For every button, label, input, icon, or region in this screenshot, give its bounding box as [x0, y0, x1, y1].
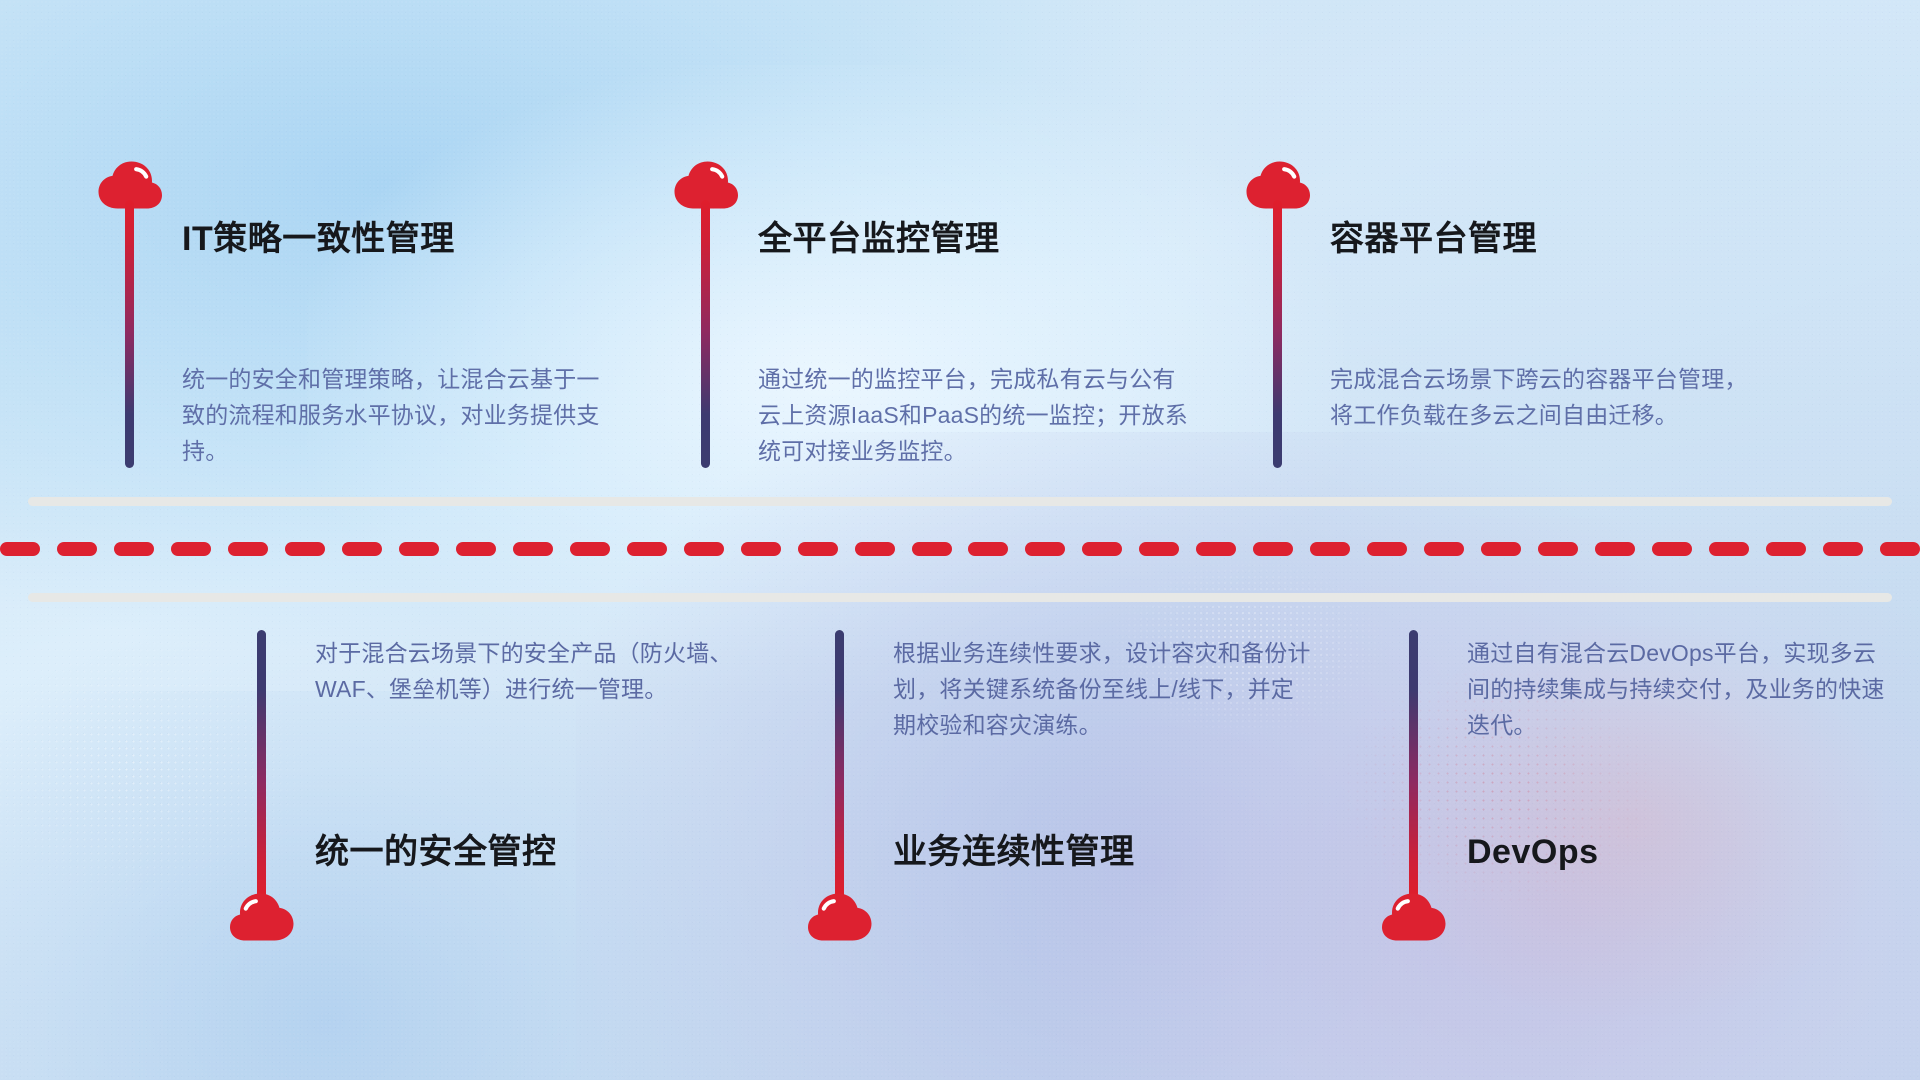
card-heading: 全平台监控管理: [758, 222, 1000, 256]
divider-dash: [741, 542, 781, 556]
card-heading: IT策略一致性管理: [182, 222, 455, 256]
connector-stem: [257, 630, 266, 900]
divider-dash: [968, 542, 1008, 556]
divider-rule-bottom: [28, 593, 1892, 602]
divider-dash: [1310, 542, 1350, 556]
card-heading: 业务连续性管理: [893, 835, 1135, 869]
connector-stem: [835, 630, 844, 900]
divider-dash: [228, 542, 268, 556]
divider-dash: [684, 542, 724, 556]
card-heading: DevOps: [1467, 835, 1599, 869]
card-body-text: 完成混合云场景下跨云的容器平台管理，将工作负载在多云之间自由迁移。: [1330, 361, 1760, 433]
divider-dash: [1652, 542, 1692, 556]
divider-rule-top: [28, 497, 1892, 506]
divider-dash: [342, 542, 382, 556]
divider-dash: [1367, 542, 1407, 556]
divider-dashed-line: [0, 542, 1920, 556]
divider-dash: [912, 542, 952, 556]
divider-dash: [1253, 542, 1293, 556]
cloud-icon: [229, 892, 295, 942]
divider-dash: [171, 542, 211, 556]
divider-dash: [1082, 542, 1122, 556]
divider-dash: [399, 542, 439, 556]
divider-dash: [114, 542, 154, 556]
card-heading: 统一的安全管控: [315, 835, 557, 869]
card-body-text: 统一的安全和管理策略，让混合云基于一致的流程和服务水平协议，对业务提供支持。: [182, 361, 612, 469]
cloud-icon: [807, 892, 873, 942]
card-body-text: 通过自有混合云DevOps平台，实现多云间的持续集成与持续交付，及业务的快速迭代…: [1467, 635, 1887, 743]
divider-dash: [57, 542, 97, 556]
divider-dash: [855, 542, 895, 556]
divider-dash: [1880, 542, 1920, 556]
card-body-text: 根据业务连续性要求，设计容灾和备份计划，将关键系统备份至线上/线下，并定期校验和…: [893, 635, 1313, 743]
divider-dash: [1025, 542, 1065, 556]
connector-stem: [125, 200, 134, 468]
cloud-icon: [1381, 892, 1447, 942]
divider-dash: [1196, 542, 1236, 556]
divider-dash: [1595, 542, 1635, 556]
divider-dash: [1538, 542, 1578, 556]
connector-stem: [1273, 200, 1282, 468]
divider-dash: [1709, 542, 1749, 556]
divider-dash: [627, 542, 667, 556]
card-body-text: 对于混合云场景下的安全产品（防火墙、WAF、堡垒机等）进行统一管理。: [315, 635, 735, 707]
connector-stem: [701, 200, 710, 468]
connector-stem: [1409, 630, 1418, 900]
divider-dash: [1139, 542, 1179, 556]
divider-dash: [0, 542, 40, 556]
divider-dash: [513, 542, 553, 556]
divider-dash: [1481, 542, 1521, 556]
card-body-text: 通过统一的监控平台，完成私有云与公有云上资源IaaS和PaaS的统一监控；开放系…: [758, 361, 1188, 469]
divider-dash: [285, 542, 325, 556]
divider-dash: [1766, 542, 1806, 556]
divider-dash: [1823, 542, 1863, 556]
infographic-canvas: IT策略一致性管理 统一的安全和管理策略，让混合云基于一致的流程和服务水平协议，…: [0, 0, 1920, 1080]
divider-dash: [570, 542, 610, 556]
divider-dash: [798, 542, 838, 556]
divider-dash: [456, 542, 496, 556]
divider-dash: [1424, 542, 1464, 556]
card-heading: 容器平台管理: [1330, 222, 1537, 256]
